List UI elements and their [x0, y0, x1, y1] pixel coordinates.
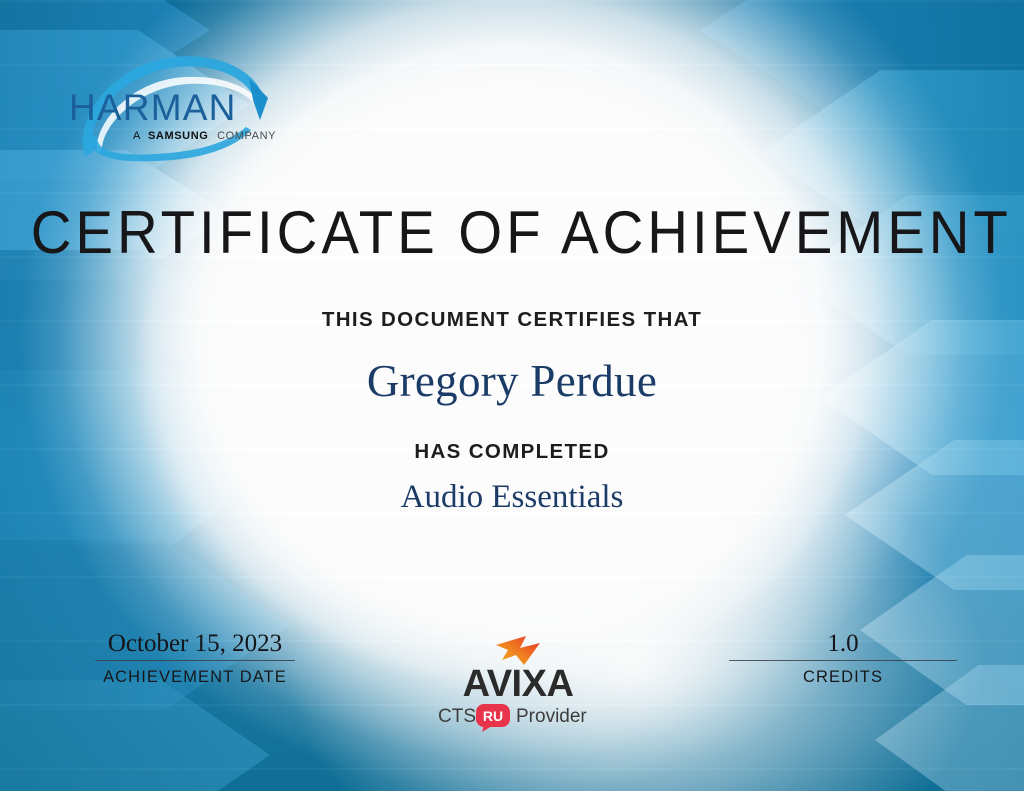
avixa-wordmark: AVIXA — [463, 663, 574, 705]
certificate-content: HARMAN A SAMSUNG COMPANY CERTIFICATE OF … — [0, 0, 1024, 791]
achievement-date-value: October 15, 2023 — [95, 630, 295, 657]
harman-wordmark: HARMAN — [69, 87, 237, 128]
avixa-provider-text: Provider — [516, 706, 587, 727]
recipient-name: Gregory Perdue — [0, 355, 1024, 407]
course-name: Audio Essentials — [0, 479, 1024, 516]
harman-logo: HARMAN A SAMSUNG COMPANY — [63, 44, 293, 162]
credits-label: CREDITS — [729, 668, 957, 687]
achievement-date-block: October 15, 2023 ACHIEVEMENT DATE — [95, 630, 295, 687]
credits-block: 1.0 CREDITS — [729, 630, 957, 687]
avixa-arrow-icon — [496, 636, 540, 665]
credits-rule — [729, 660, 957, 661]
credits-value: 1.0 — [729, 630, 957, 657]
harman-tagline-suffix: COMPANY — [217, 130, 276, 142]
certificate-document: HARMAN A SAMSUNG COMPANY CERTIFICATE OF … — [0, 0, 1024, 791]
certifies-line: THIS DOCUMENT CERTIFIES THAT — [0, 308, 1024, 332]
avixa-ru-badge: RU — [476, 704, 510, 732]
harman-tagline-prefix: A — [133, 130, 141, 142]
completed-line: HAS COMPLETED — [0, 440, 1024, 464]
achievement-date-label: ACHIEVEMENT DATE — [95, 668, 295, 687]
svg-text:A SAMSUNG: A SAMSUNG COMPANY — [133, 130, 276, 142]
achievement-date-rule — [95, 660, 295, 661]
avixa-logo: AVIXA CTS RU Provider — [432, 624, 604, 732]
avixa-ru-badge-text: RU — [483, 708, 503, 724]
avixa-cts-text: CTS — [438, 706, 476, 727]
page-title: CERTIFICATE OF ACHIEVEMENT — [31, 198, 994, 267]
harman-tagline-brand: SAMSUNG — [148, 130, 208, 142]
